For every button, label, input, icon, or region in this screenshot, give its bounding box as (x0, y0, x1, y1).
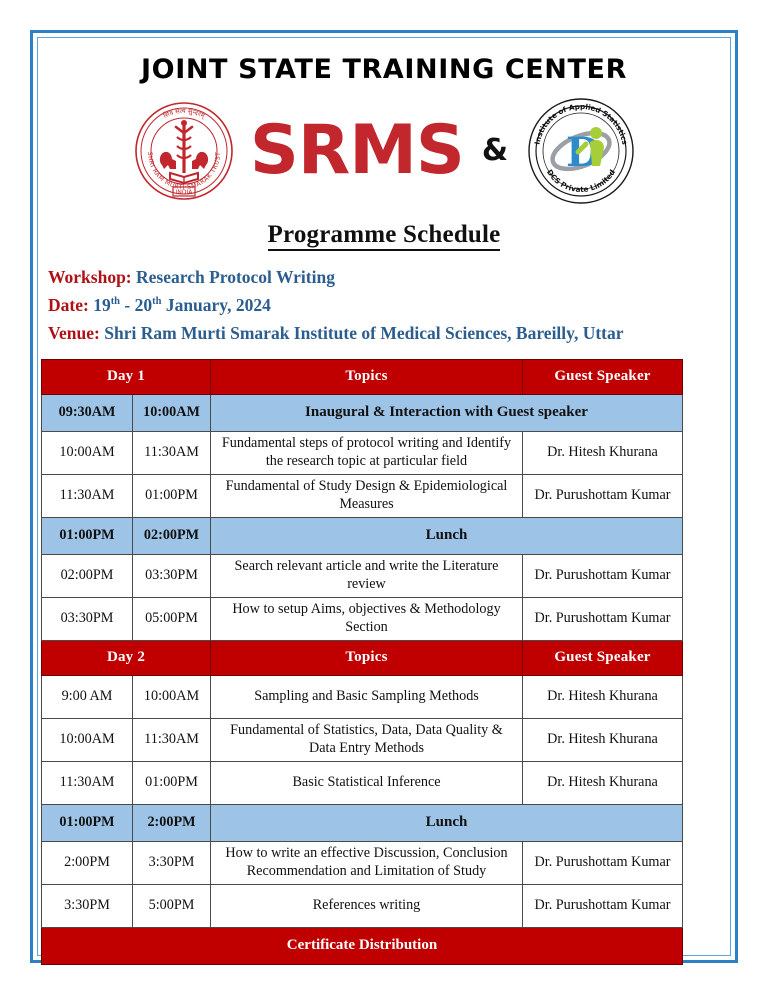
row-start-time: 10:00AM (42, 718, 133, 761)
row-end-time: 01:00PM (133, 474, 211, 517)
table-row: 10:00AM 11:30AM Fundamental of Statistic… (42, 718, 683, 761)
row-topic: References writing (211, 884, 523, 927)
ampersand-separator: & (478, 133, 512, 168)
day1-header-topics: Topics (211, 359, 523, 394)
row-end-time: 10:00AM (133, 394, 211, 431)
document-page: JOINT STATE TRAINING CENTER शिवं सत्यं स… (0, 0, 768, 994)
row-speaker: Dr. Hitesh Khurana (523, 718, 683, 761)
row-end-time: 11:30AM (133, 431, 211, 474)
schedule-title: Programme Schedule (40, 221, 728, 249)
srms-trust-emblem-icon: शिवं सत्यं सुन्दरम् SHRI RAM MURTI SMARA… (132, 99, 236, 203)
venue-label: Venue: (48, 323, 100, 343)
schedule-title-text: Programme Schedule (268, 221, 501, 251)
row-start-time: 11:30AM (42, 474, 133, 517)
day2-header-row: Day 2 Topics Guest Speaker (42, 640, 683, 675)
programme-schedule-table: Day 1 Topics Guest Speaker 09:30AM 10:00… (41, 359, 683, 965)
row-end-time: 03:30PM (133, 554, 211, 597)
row-speaker: Dr. Purushottam Kumar (523, 554, 683, 597)
table-row: 2:00PM 3:30PM How to write an effective … (42, 841, 683, 884)
date-value: 19th - 20th January, 2024 (93, 295, 271, 315)
row-speaker: Dr. Hitesh Khurana (523, 431, 683, 474)
row-topic: Fundamental of Study Design & Epidemiolo… (211, 474, 523, 517)
date-label: Date: (48, 295, 89, 315)
row-end-time: 11:30AM (133, 718, 211, 761)
row-start-time: 3:30PM (42, 884, 133, 927)
table-row: 11:30AM 01:00PM Basic Statistical Infere… (42, 761, 683, 804)
day2-header-day: Day 2 (42, 640, 211, 675)
row-topic: How to setup Aims, objectives & Methodol… (211, 597, 523, 640)
meta-row-workshop: Workshop: Research Protocol Writing (48, 263, 728, 291)
row-topic: Sampling and Basic Sampling Methods (211, 675, 523, 718)
row-end-time: 3:30PM (133, 841, 211, 884)
row-start-time: 01:00PM (42, 804, 133, 841)
row-topic: Fundamental steps of protocol writing an… (211, 431, 523, 474)
row-topic: Fundamental of Statistics, Data, Data Qu… (211, 718, 523, 761)
row-end-time: 02:00PM (133, 517, 211, 554)
row-speaker: Dr. Purushottam Kumar (523, 884, 683, 927)
svg-text:INDIA: INDIA (176, 189, 194, 196)
row-end-time: 2:00PM (133, 804, 211, 841)
table-row: 3:30PM 5:00PM References writing Dr. Pur… (42, 884, 683, 927)
row-start-time: 9:00 AM (42, 675, 133, 718)
event-metadata: Workshop: Research Protocol Writing Date… (40, 263, 728, 348)
row-end-time: 01:00PM (133, 761, 211, 804)
row-end-time: 05:00PM (133, 597, 211, 640)
row-banner-text: Lunch (211, 804, 683, 841)
row-start-time: 09:30AM (42, 394, 133, 431)
row-end-time: 10:00AM (133, 675, 211, 718)
row-start-time: 11:30AM (42, 761, 133, 804)
row-speaker: Dr. Purushottam Kumar (523, 841, 683, 884)
row-start-time: 2:00PM (42, 841, 133, 884)
schedule-table-body: Day 1 Topics Guest Speaker 09:30AM 10:00… (42, 359, 683, 964)
row-banner-text: Inaugural & Interaction with Guest speak… (211, 394, 683, 431)
row-start-time: 02:00PM (42, 554, 133, 597)
date-month-year: January, 2024 (161, 295, 270, 315)
workshop-label: Workshop: (48, 267, 132, 287)
page-title: JOINT STATE TRAINING CENTER (40, 55, 728, 85)
day1-header-row: Day 1 Topics Guest Speaker (42, 359, 683, 394)
meta-row-venue: Venue: Shri Ram Murti Smarak Institute o… (48, 319, 728, 347)
certificate-distribution-row: Certificate Distribution (42, 927, 683, 964)
row-speaker: Dr. Hitesh Khurana (523, 675, 683, 718)
srms-wordmark: SRMS (250, 117, 464, 185)
document-content: JOINT STATE TRAINING CENTER शिवं सत्यं स… (40, 40, 728, 953)
row-topic: Search relevant article and write the Li… (211, 554, 523, 597)
logo-row: शिवं सत्यं सुन्दरम् SHRI RAM MURTI SMARA… (40, 95, 728, 207)
row-start-time: 01:00PM (42, 517, 133, 554)
row-speaker: Dr. Purushottam Kumar (523, 597, 683, 640)
row-start-time: 03:30PM (42, 597, 133, 640)
day2-header-topics: Topics (211, 640, 523, 675)
date-day-start: 19 (93, 295, 111, 315)
date-sup-start: th (111, 296, 120, 307)
table-row: 01:00PM 02:00PM Lunch (42, 517, 683, 554)
table-row: 09:30AM 10:00AM Inaugural & Interaction … (42, 394, 683, 431)
table-row: 10:00AM 11:30AM Fundamental steps of pro… (42, 431, 683, 474)
date-separator: - 20 (120, 295, 152, 315)
certificate-distribution-text: Certificate Distribution (42, 927, 683, 964)
table-row: 03:30PM 05:00PM How to setup Aims, objec… (42, 597, 683, 640)
workshop-value: Research Protocol Writing (136, 267, 335, 287)
row-speaker: Dr. Purushottam Kumar (523, 474, 683, 517)
row-end-time: 5:00PM (133, 884, 211, 927)
venue-value: Shri Ram Murti Smarak Institute of Medic… (104, 323, 623, 343)
table-row: 02:00PM 03:30PM Search relevant article … (42, 554, 683, 597)
meta-row-date: Date: 19th - 20th January, 2024 (48, 291, 728, 319)
row-banner-text: Lunch (211, 517, 683, 554)
day1-header-day: Day 1 (42, 359, 211, 394)
table-row: 11:30AM 01:00PM Fundamental of Study Des… (42, 474, 683, 517)
day2-header-speaker: Guest Speaker (523, 640, 683, 675)
row-topic: How to write an effective Discussion, Co… (211, 841, 523, 884)
day1-header-speaker: Guest Speaker (523, 359, 683, 394)
table-row: 01:00PM 2:00PM Lunch (42, 804, 683, 841)
table-row: 9:00 AM 10:00AM Sampling and Basic Sampl… (42, 675, 683, 718)
row-start-time: 10:00AM (42, 431, 133, 474)
row-topic: Basic Statistical Inference (211, 761, 523, 804)
row-speaker: Dr. Hitesh Khurana (523, 761, 683, 804)
dcs-institute-emblem-icon: Institute of Applied Statistics DCS Priv… (526, 96, 636, 206)
